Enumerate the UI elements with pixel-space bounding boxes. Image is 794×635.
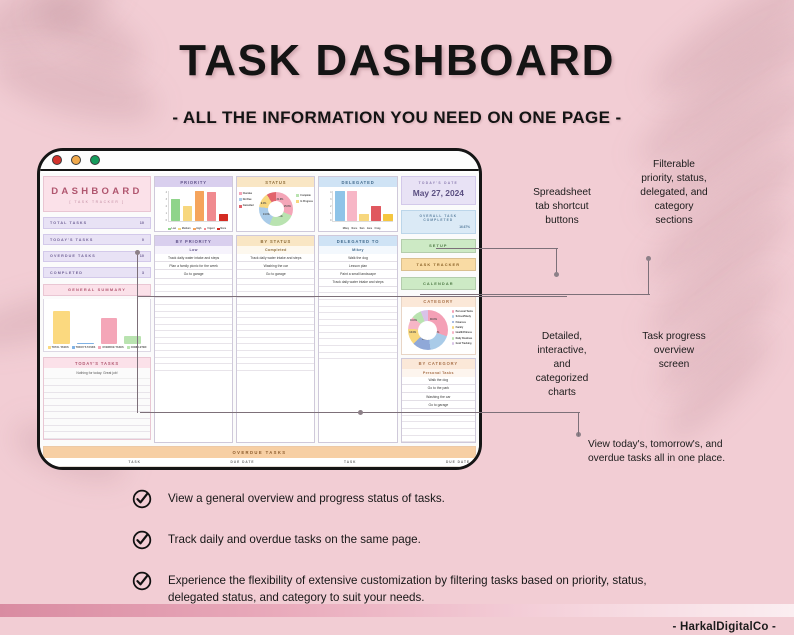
list-item: Walk the dog xyxy=(319,254,396,262)
dashboard-title: DASHBOARD xyxy=(44,186,150,197)
column-header-due-date: DUE DATE xyxy=(226,458,260,466)
leader-line-overdue-riser xyxy=(578,412,582,436)
table-row: Pay credit card06/01/24 xyxy=(260,467,476,470)
stat-label: TODAY'S TASKS xyxy=(50,238,93,242)
status-legend-right: Complete In Progress xyxy=(296,194,313,203)
window-titlebar xyxy=(40,151,479,171)
todays-tasks-message: Nothing for today. Great job! xyxy=(44,368,150,379)
priority-column: PRIORITY 43 21 0 xyxy=(154,176,233,443)
page-header: TASK DASHBOARD - ALL THE INFORMATION YOU… xyxy=(0,36,794,128)
todays-date-value: May 27, 2024 xyxy=(402,188,475,198)
delegated-to-filter[interactable]: Mikey xyxy=(319,246,396,254)
list-item: Washing the car xyxy=(402,393,475,401)
list-item: View a general overview and progress sta… xyxy=(132,490,672,514)
list-item: Experience the flexibility of extensive … xyxy=(132,572,672,607)
column-header-due-date: DUE DATE xyxy=(441,458,475,466)
general-summary-legend: TOTAL TASKS TODAY'S TASKS OVERDUE TASKS … xyxy=(48,346,146,349)
table-header-row: TASK DUE DATE xyxy=(260,458,476,467)
annotation-detailed-charts: Detailed,interactive,andcategorizedchart… xyxy=(512,330,612,400)
check-circle-icon xyxy=(132,530,152,555)
leader-line-filterable-sections xyxy=(420,282,660,322)
todays-tasks-panel: TODAY'S TASKS Nothing for today. Great j… xyxy=(43,357,151,440)
column-header-task: TASK xyxy=(44,458,226,466)
overdue-tasks-title: OVERDUE TASKS xyxy=(44,447,475,458)
legend-label: TOTAL TASKS xyxy=(52,346,69,349)
status-donut-chart: Overdue Not Due Cancelled 31.3% 25.0% 20… xyxy=(237,187,314,231)
status-column: STATUS Overdue Not Due Cancelled 31.3% 2… xyxy=(236,176,315,443)
stat-label: TOTAL TASKS xyxy=(50,221,87,225)
stat-value: 0 xyxy=(142,238,144,242)
list-item: Go to garage xyxy=(155,270,232,278)
by-priority-title: BY PRIORITY xyxy=(155,236,232,246)
status-chart-card[interactable]: STATUS Overdue Not Due Cancelled 31.3% 2… xyxy=(236,176,315,232)
table-row: Track daily water intake and steps05/22/… xyxy=(44,467,260,470)
by-status-title: BY STATUS xyxy=(237,236,314,246)
maximize-icon[interactable] xyxy=(90,155,100,165)
stat-label: COMPLETED xyxy=(50,271,83,275)
list-item: Track daily water intake and steps xyxy=(319,279,396,287)
list-item: Lesson plan xyxy=(319,262,396,270)
donut-ring: 31.3% 25.0% 20.5% 14.1% 9.1% xyxy=(259,192,293,226)
page-title: TASK DASHBOARD xyxy=(0,36,794,86)
bullet-text: View a general overview and progress sta… xyxy=(168,490,445,507)
page-subtitle: - ALL THE INFORMATION YOU NEED ON ONE PA… xyxy=(0,108,794,128)
stat-value: 3 xyxy=(142,271,144,275)
by-status-filter[interactable]: Completed xyxy=(237,246,314,254)
annotation-task-progress: Task progressoverviewscreen xyxy=(624,330,724,372)
by-priority-filter[interactable]: Low xyxy=(155,246,232,254)
dashboard-title-block: DASHBOARD [ TASK TRACKER ] xyxy=(43,176,151,212)
list-item: Go to garage xyxy=(237,270,314,278)
delegated-chart-bars xyxy=(332,191,392,222)
list-item: Go to garage xyxy=(402,401,475,409)
delegated-chart-card[interactable]: DELEGATED 43 21 0 xyxy=(318,176,397,232)
priority-chart-bars xyxy=(168,191,228,222)
check-circle-icon xyxy=(132,489,152,514)
priority-chart-card[interactable]: PRIORITY 43 21 0 xyxy=(154,176,233,232)
stat-value: 10 xyxy=(140,221,144,225)
stat-completed[interactable]: COMPLETED 3 xyxy=(43,267,151,278)
leader-line-detailed-charts xyxy=(137,296,567,298)
priority-chart-title: PRIORITY xyxy=(155,177,232,187)
column-header-task: TASK xyxy=(260,458,442,466)
delegated-to-title: DELEGATED TO xyxy=(319,236,396,246)
overall-completed-card: OVERALL TASK COMPLETED 16.67% xyxy=(401,210,476,234)
delegated-chart-title: DELEGATED xyxy=(319,177,396,187)
stat-total-tasks[interactable]: TOTAL TASKS 10 xyxy=(43,217,151,228)
overall-completed-value: 16.67% xyxy=(407,225,470,229)
list-item: Washing the car xyxy=(237,262,314,270)
footer-brand: - HarkalDigitalCo - xyxy=(673,621,776,633)
list-item: Plan a family picnic for the week xyxy=(155,262,232,270)
annotation-filterable-sections: Filterablepriority, status,delegated, an… xyxy=(620,158,728,228)
delegated-column: DELEGATED 43 21 0 xyxy=(318,176,397,443)
stat-label: OVERDUE TASKS xyxy=(50,254,96,258)
by-category-title: BY CATEGORY xyxy=(402,359,475,369)
delegated-chart-yaxis: 43 21 0 xyxy=(326,191,331,222)
todays-date-label: TODAY'S DATE xyxy=(402,181,475,185)
status-chart-title: STATUS xyxy=(237,177,314,187)
general-summary-title: GENERAL SUMMARY xyxy=(43,284,151,296)
by-category-filter[interactable]: Personal Tasks xyxy=(402,369,475,377)
leader-line-overview-vertical xyxy=(137,253,141,413)
overdue-tasks-section: OVERDUE TASKS TASK DUE DATE Track daily … xyxy=(43,446,476,470)
by-category-task-list: Walk the dog Go to the park Washing the … xyxy=(402,377,475,443)
check-circle-icon xyxy=(132,571,152,596)
list-item: Paint a small landscape xyxy=(319,270,396,278)
priority-chart-body: 43 21 0 Low Mediu xyxy=(155,187,232,231)
stat-todays-tasks[interactable]: TODAY'S TASKS 0 xyxy=(43,234,151,245)
bullet-text: Experience the flexibility of extensive … xyxy=(168,572,672,607)
todays-date-card: TODAY'S DATE May 27, 2024 xyxy=(401,176,476,205)
leader-line-spreadsheet-tabs xyxy=(436,248,566,278)
bullet-text: Track daily and overdue tasks on the sam… xyxy=(168,531,421,548)
todays-tasks-title: TODAY'S TASKS xyxy=(44,358,150,368)
delegated-chart-body: 43 21 0 Mikey Non xyxy=(319,187,396,231)
list-item: Go to the park xyxy=(402,385,475,393)
priority-chart-legend: Low Medium High Urgent None xyxy=(165,228,229,231)
list-item: Walk the dog xyxy=(402,377,475,385)
list-item: Track daily water intake and steps xyxy=(237,254,314,262)
legend-label: OVERDUE TASKS xyxy=(102,346,123,349)
annotation-spreadsheet-tabs: Spreadsheettab shortcutbuttons xyxy=(514,186,610,228)
dashboard-summary-column: DASHBOARD [ TASK TRACKER ] TOTAL TASKS 1… xyxy=(43,176,151,443)
priority-chart-yaxis: 43 21 0 xyxy=(162,191,167,222)
list-item: Track daily water intake and steps xyxy=(155,254,232,262)
overdue-table-right: TASK DUE DATE Pay credit card06/01/24 Cl… xyxy=(260,458,476,470)
delegated-chart-xaxis: Mikey None Sam Jane Craig xyxy=(329,228,393,230)
overall-completed-label: OVERALL TASK COMPLETED xyxy=(407,214,470,222)
leader-line-overdue-tasks xyxy=(140,412,580,432)
list-item: Track daily and overdue tasks on the sam… xyxy=(132,531,672,555)
minimize-icon[interactable] xyxy=(71,155,81,165)
table-header-row: TASK DUE DATE xyxy=(44,458,260,467)
close-icon[interactable] xyxy=(52,155,62,165)
status-legend-left: Overdue Not Due Cancelled xyxy=(239,192,254,207)
annotation-view-tasks: View today's, tomorrow's, andoverdue tas… xyxy=(588,438,788,466)
overdue-table-left: TASK DUE DATE Track daily water intake a… xyxy=(44,458,260,470)
feature-bullet-list: View a general overview and progress sta… xyxy=(132,490,672,624)
legend-label: TODAY'S TASKS xyxy=(76,346,96,349)
general-summary-bars xyxy=(48,302,146,344)
dashboard-subtitle: [ TASK TRACKER ] xyxy=(44,200,150,204)
general-summary-chart[interactable]: TOTAL TASKS TODAY'S TASKS OVERDUE TASKS … xyxy=(43,299,151,352)
